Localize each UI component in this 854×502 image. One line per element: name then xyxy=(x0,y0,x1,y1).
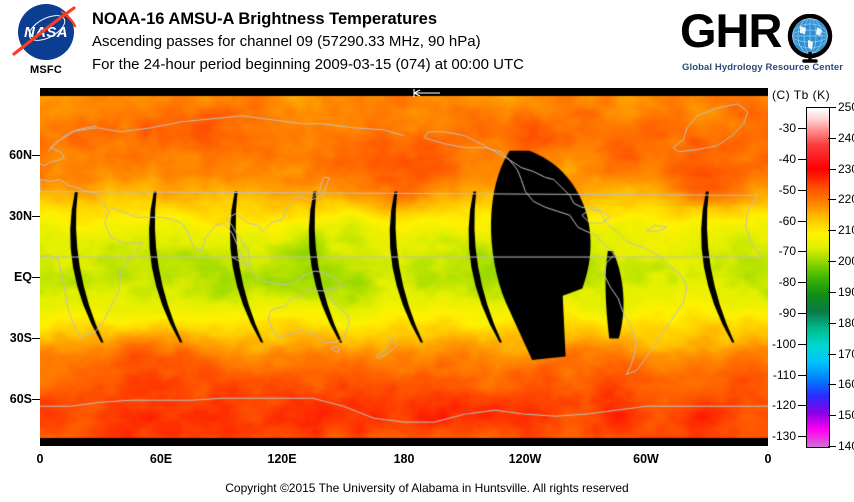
colorbar-kelvin-label: 250 xyxy=(838,101,854,113)
subtitle-channel: Ascending passes for channel 09 (57290.3… xyxy=(92,30,672,53)
x-axis-label-60e: 60E xyxy=(139,452,183,466)
colorbar-celsius-label: -30 xyxy=(754,122,796,134)
colorbar-kelvin-label: 160 xyxy=(838,378,854,390)
colorbar-kelvin-label: 190 xyxy=(838,286,854,298)
y-axis-label-eq: EQ xyxy=(0,271,32,283)
colorbar-kelvin-tick xyxy=(828,169,836,170)
ghrc-acronym: GHR xyxy=(680,6,781,56)
colorbar-celsius-label: -60 xyxy=(754,215,796,227)
y-axis-label-60n: 60N xyxy=(0,149,32,161)
brightness-temperature-heatmap[interactable] xyxy=(40,88,768,446)
x-axis-label-60w: 60W xyxy=(624,452,668,466)
subtitle-period: For the 24-hour period beginning 2009-03… xyxy=(92,53,672,76)
x-axis-label-120e: 120E xyxy=(260,452,304,466)
x-axis-label-0: 0 xyxy=(18,452,62,466)
colorbar-gradient[interactable] xyxy=(806,107,830,448)
ghrc-fullname: Global Hydrology Resource Center xyxy=(682,62,843,73)
nasa-wordmark: NASA xyxy=(18,24,74,41)
colorbar-kelvin-tick xyxy=(828,292,836,293)
colorbar-header: (C) Tb (K) xyxy=(772,88,830,102)
y-axis-tick xyxy=(32,277,40,278)
colorbar-kelvin-tick xyxy=(828,138,836,139)
y-axis-tick xyxy=(32,216,40,217)
colorbar-celsius-label: -80 xyxy=(754,276,796,288)
colorbar-kelvin-tick xyxy=(828,384,836,385)
y-axis-label-30n: 30N xyxy=(0,210,32,222)
y-axis-tick xyxy=(32,399,40,400)
colorbar-kelvin-label: 220 xyxy=(838,193,854,205)
ghrc-globe-icon xyxy=(786,14,836,64)
y-axis-tick xyxy=(32,155,40,156)
colorbar-kelvin-label: 230 xyxy=(838,163,854,175)
page-title: NOAA-16 AMSU-A Brightness Temperatures xyxy=(92,8,672,30)
colorbar-celsius-label: -50 xyxy=(754,184,796,196)
nasa-logo: NASA MSFC xyxy=(12,4,76,82)
colorbar-kelvin-label: 240 xyxy=(838,132,854,144)
colorbar-celsius-label: -70 xyxy=(754,245,796,257)
colorbar-celsius-tick xyxy=(798,190,806,191)
colorbar-celsius-label: -100 xyxy=(754,338,796,350)
colorbar-celsius-tick xyxy=(798,436,806,437)
colorbar-celsius-label: -90 xyxy=(754,307,796,319)
colorbar-kelvin-tick xyxy=(828,261,836,262)
colorbar-celsius-label: -110 xyxy=(754,369,796,381)
x-axis-label-180: 180 xyxy=(382,452,426,466)
colorbar-kelvin-tick xyxy=(828,107,836,108)
nasa-insignia-icon: NASA xyxy=(18,4,74,60)
colorbar-kelvin-tick xyxy=(828,354,836,355)
x-axis-label-0: 0 xyxy=(746,452,790,466)
colorbar-celsius-label: -130 xyxy=(754,430,796,442)
colorbar-celsius-tick xyxy=(798,344,806,345)
nasa-center-label: MSFC xyxy=(12,64,80,76)
colorbar-kelvin-label: 200 xyxy=(838,255,854,267)
colorbar-celsius-tick xyxy=(798,251,806,252)
colorbar-celsius-tick xyxy=(798,282,806,283)
colorbar-kelvin-label: 140 xyxy=(838,440,854,452)
colorbar-kelvin-label: 150 xyxy=(838,409,854,421)
map-plot-area[interactable] xyxy=(40,88,768,446)
colorbar-celsius-tick xyxy=(798,405,806,406)
colorbar-kelvin-tick xyxy=(828,230,836,231)
y-axis-label-60s: 60S xyxy=(0,393,32,405)
colorbar-celsius-tick xyxy=(798,128,806,129)
y-axis-label-30s: 30S xyxy=(0,332,32,344)
colorbar-celsius-label: -120 xyxy=(754,399,796,411)
colorbar-celsius-tick xyxy=(798,159,806,160)
map-cursor-marker xyxy=(412,88,442,98)
page-header: NASA MSFC NOAA-16 AMSU-A Brightness Temp… xyxy=(0,0,854,86)
colorbar-celsius-label: -40 xyxy=(754,153,796,165)
colorbar-celsius-tick xyxy=(798,313,806,314)
colorbar-kelvin-tick xyxy=(828,199,836,200)
colorbar-kelvin-label: 170 xyxy=(838,348,854,360)
y-axis-tick xyxy=(32,338,40,339)
ghrc-logo: GHR Global Hydrology Resource Center xyxy=(680,6,844,80)
x-axis-label-120w: 120W xyxy=(503,452,547,466)
colorbar-celsius-tick xyxy=(798,375,806,376)
colorbar-kelvin-label: 180 xyxy=(838,317,854,329)
colorbar-kelvin-label: 210 xyxy=(838,224,854,236)
title-block: NOAA-16 AMSU-A Brightness Temperatures A… xyxy=(92,8,672,76)
colorbar-kelvin-tick xyxy=(828,446,836,447)
colorbar-kelvin-tick xyxy=(828,415,836,416)
copyright-notice: Copyright ©2015 The University of Alabam… xyxy=(0,481,854,495)
colorbar-kelvin-tick xyxy=(828,323,836,324)
colorbar-celsius-tick xyxy=(798,221,806,222)
